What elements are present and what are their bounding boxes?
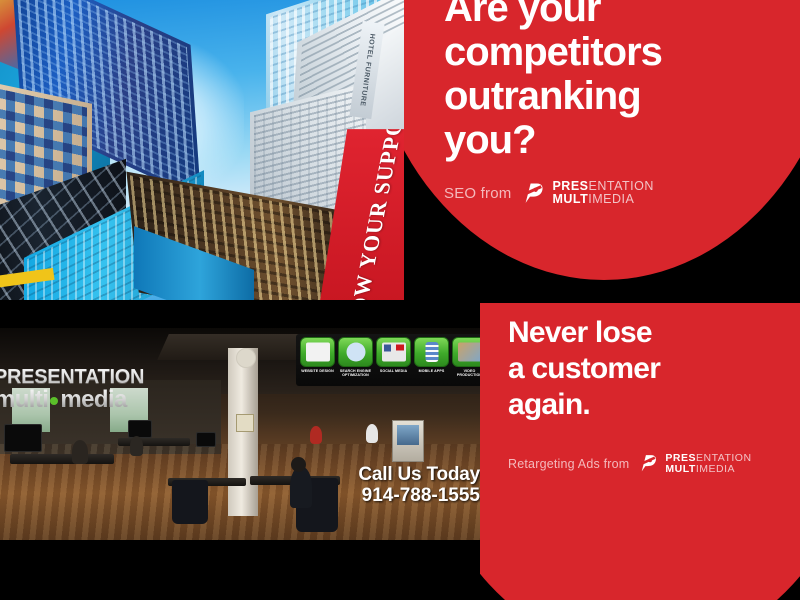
services-icon-row[interactable]: WEBSITE DESIGN SEARCH ENGINE OPTIMIZATIO… bbox=[300, 337, 480, 378]
service-item-video-production[interactable]: VIDEO PRODUCTION bbox=[452, 337, 480, 378]
seo-content: Are your competitors outranking you? SEO… bbox=[404, 0, 800, 300]
monitor bbox=[4, 424, 42, 452]
person-seated bbox=[130, 436, 143, 456]
person-standing bbox=[366, 424, 378, 443]
person-seated bbox=[72, 440, 88, 464]
desk bbox=[10, 454, 114, 464]
service-item-website-design[interactable]: WEBSITE DESIGN bbox=[300, 337, 335, 378]
seo-ad-panel[interactable]: Leverage the power of SEO. Are your comp… bbox=[404, 0, 800, 300]
vertical-sign-text: HOTEL FURNITURE bbox=[358, 33, 375, 107]
film-icon bbox=[452, 337, 480, 367]
service-label: SOCIAL MEDIA bbox=[376, 369, 411, 373]
smartphone-icon bbox=[414, 337, 449, 367]
retargeting-headline-line-1: Never lose bbox=[508, 315, 788, 351]
green-dot-icon bbox=[50, 397, 58, 405]
wall-picture bbox=[236, 414, 254, 432]
seo-attribution: SEO from PRESENTATION bbox=[444, 180, 654, 206]
wall-clock-icon bbox=[236, 348, 256, 368]
retargeting-headline-line-2: a customer bbox=[508, 351, 788, 387]
office-chair bbox=[172, 480, 208, 524]
office-logo-overlay: PRESENTATION multimedia bbox=[0, 366, 174, 414]
service-label: SEARCH ENGINE OPTIMIZATION bbox=[338, 369, 373, 378]
seo-headline-line-2: competitors bbox=[444, 30, 774, 74]
retargeting-headline-line-3: again. bbox=[508, 387, 788, 423]
red-billboard-text: SHOW YOUR SUPPORT bbox=[339, 129, 404, 300]
logo-line2-light: IMEDIA bbox=[696, 463, 735, 475]
office-logo-media: media bbox=[60, 386, 126, 413]
logo-line2-bold: MULT bbox=[665, 463, 695, 475]
seo-headline-line-4: you? bbox=[444, 118, 774, 162]
logo-line2-light: IMEDIA bbox=[588, 192, 634, 206]
logo-line2-bold: MULT bbox=[552, 192, 588, 206]
person-standing bbox=[310, 426, 322, 444]
p-mark-icon bbox=[637, 453, 658, 474]
presentation-multimedia-logo[interactable]: PRESENTATION MULTIMEDIA bbox=[637, 453, 751, 475]
seo-headline: Are your competitors outranking you? bbox=[444, 0, 774, 162]
city-photo-panel[interactable]: HOTEL FURNITURE SHOW YOUR SUPPORT bbox=[0, 0, 404, 300]
retargeting-attribution: Retargeting Ads from PRESENTATION MULTIM… bbox=[508, 453, 752, 475]
cta-phone-number[interactable]: 914-788-1555 bbox=[358, 485, 480, 506]
service-item-seo[interactable]: SEARCH ENGINE OPTIMIZATION bbox=[338, 337, 373, 378]
service-label: WEBSITE DESIGN bbox=[300, 369, 335, 373]
office-photo-panel[interactable]: WEBSITE DESIGN SEARCH ENGINE OPTIMIZATIO… bbox=[0, 300, 480, 600]
logo-wordmark: PRESENTATION MULTIMEDIA bbox=[552, 180, 653, 206]
logo-wordmark: PRESENTATION MULTIMEDIA bbox=[665, 453, 751, 475]
p-mark-icon bbox=[520, 181, 545, 206]
service-label: MOBILE APPS bbox=[414, 369, 449, 373]
office-logo-line2: multimedia bbox=[0, 386, 174, 414]
call-to-action[interactable]: Call Us Today 914-788-1555 bbox=[358, 465, 480, 506]
presentation-multimedia-logo[interactable]: PRESENTATION MULTIMEDIA bbox=[520, 180, 653, 206]
seo-headline-line-3: outranking bbox=[444, 74, 774, 118]
monitor-icon bbox=[300, 337, 335, 367]
person-seated bbox=[290, 466, 312, 508]
retargeting-from-label: Retargeting Ads from bbox=[508, 457, 629, 471]
service-item-social-media[interactable]: SOCIAL MEDIA bbox=[376, 337, 411, 378]
support-column bbox=[228, 348, 258, 516]
retargeting-headline: Never lose a customer again. bbox=[508, 315, 788, 423]
logo-line1-bold: PRES bbox=[552, 179, 588, 193]
logo-line1-light: ENTATION bbox=[589, 179, 654, 193]
social-icon bbox=[376, 337, 411, 367]
wall-kiosk-screen bbox=[392, 420, 424, 462]
cta-line-1: Call Us Today bbox=[358, 465, 480, 485]
office-interior-image: WEBSITE DESIGN SEARCH ENGINE OPTIMIZATIO… bbox=[0, 328, 480, 540]
desk bbox=[118, 438, 190, 446]
ad-collage-canvas: HOTEL FURNITURE SHOW YOUR SUPPORT Levera… bbox=[0, 0, 800, 600]
office-logo-multi: multi bbox=[0, 386, 48, 413]
seo-from-label: SEO from bbox=[444, 185, 511, 202]
magnifier-icon bbox=[338, 337, 373, 367]
monitor bbox=[196, 432, 216, 447]
service-item-mobile-apps[interactable]: MOBILE APPS bbox=[414, 337, 449, 378]
seo-headline-line-1: Are your bbox=[444, 0, 774, 30]
monitor bbox=[128, 420, 152, 438]
service-label: VIDEO PRODUCTION bbox=[452, 369, 480, 378]
retargeting-ad-panel[interactable]: Re-engage your visitors with tailored ad… bbox=[480, 303, 800, 600]
